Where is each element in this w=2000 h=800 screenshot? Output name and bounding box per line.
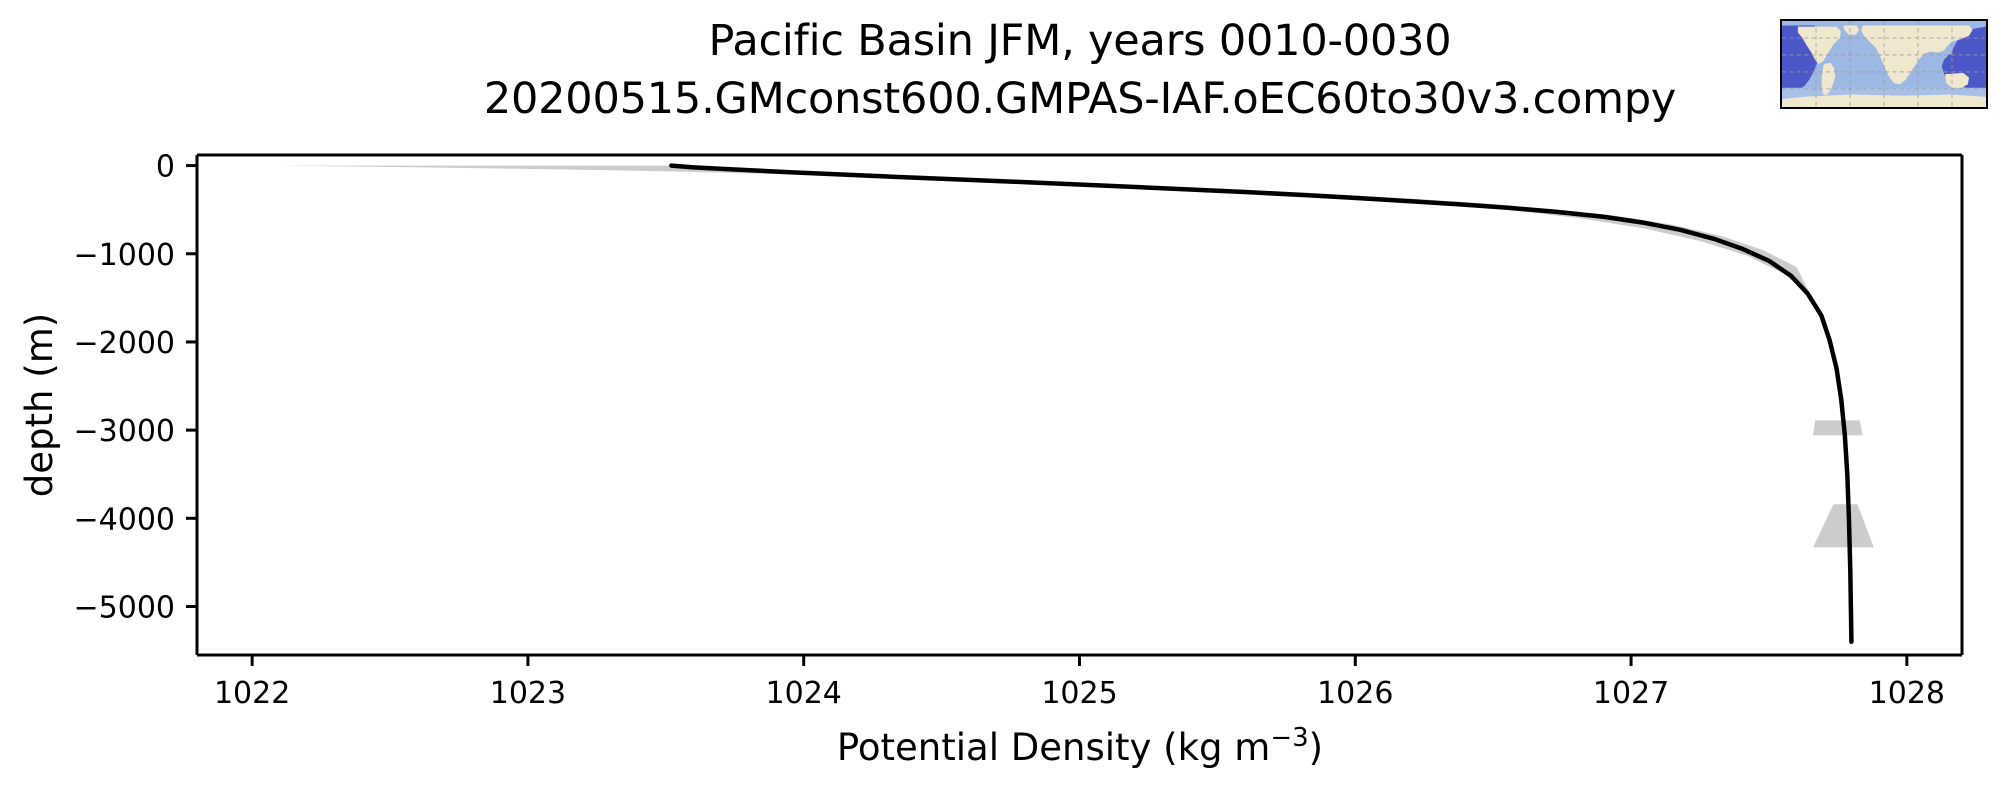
y-tick-label: 0 bbox=[156, 150, 175, 185]
y-tick-label: −5000 bbox=[74, 590, 175, 625]
x-tick-label: 1022 bbox=[214, 676, 290, 711]
x-tick-label: 1023 bbox=[490, 676, 566, 711]
x-tick-label: 1026 bbox=[1317, 676, 1393, 711]
x-tick-label: 1028 bbox=[1869, 676, 1945, 711]
std-band-patch-rectangle bbox=[1813, 420, 1863, 435]
x-tick-label: 1025 bbox=[1041, 676, 1117, 711]
x-axis-label-main: Potential Density (kg m bbox=[837, 726, 1270, 769]
plot-area: 1022102310241025102610271028 0−1000−2000… bbox=[0, 0, 2000, 800]
plot-background bbox=[197, 155, 1962, 655]
y-axis-ticks: 0−1000−2000−3000−4000−5000 bbox=[74, 150, 197, 626]
x-axis-label-tail: ) bbox=[1309, 726, 1323, 769]
y-tick-label: −3000 bbox=[74, 414, 175, 449]
x-axis-ticks: 1022102310241025102610271028 bbox=[214, 655, 1945, 711]
x-axis-label-superscript: −3 bbox=[1270, 723, 1308, 753]
y-tick-label: −2000 bbox=[74, 326, 175, 361]
y-tick-label: −1000 bbox=[74, 238, 175, 273]
x-tick-label: 1027 bbox=[1593, 676, 1669, 711]
y-tick-label: −4000 bbox=[74, 502, 175, 537]
figure-canvas: Pacific Basin JFM, years 0010-0030 20200… bbox=[0, 0, 2000, 800]
x-axis-label: Potential Density (kg m−3) bbox=[837, 723, 1323, 769]
x-tick-label: 1024 bbox=[766, 676, 842, 711]
y-axis-label: depth (m) bbox=[18, 313, 61, 497]
